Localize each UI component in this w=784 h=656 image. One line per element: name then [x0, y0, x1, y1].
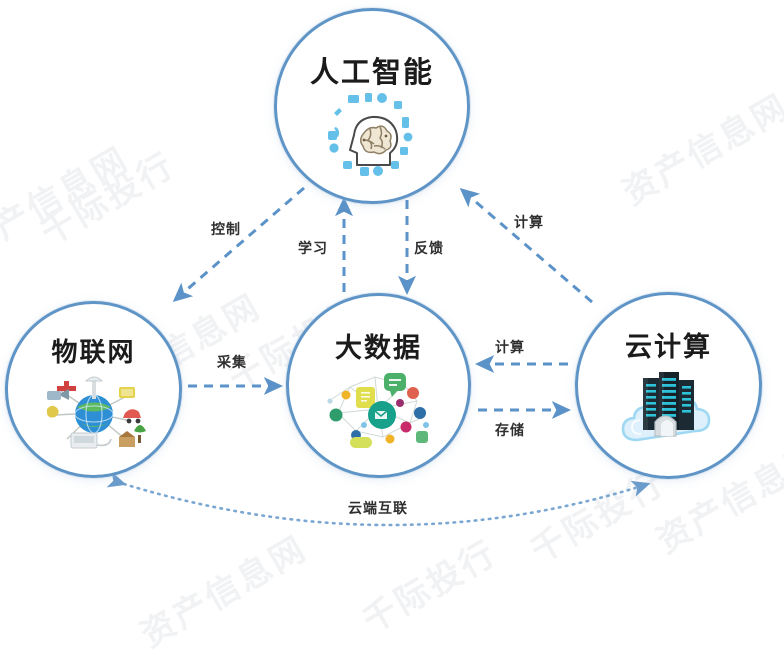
node-iot[interactable]: 物联网: [5, 301, 182, 478]
brain-head-icon: [312, 91, 432, 183]
edge-label-feedback: 反馈: [414, 238, 444, 258]
node-cloud-label: 云计算: [625, 325, 712, 364]
edge-label-learning: 学习: [298, 238, 328, 258]
node-cloud[interactable]: 云计算: [575, 292, 762, 479]
cloud-server-icon: [611, 364, 727, 450]
edge-label-control: 控制: [211, 219, 241, 239]
edge-label-compute-cloud-bd: 计算: [495, 337, 525, 357]
node-ai-label: 人工智能: [310, 49, 434, 91]
globe-devices-icon: [33, 369, 155, 455]
node-bd[interactable]: 大数据: [286, 293, 471, 478]
edge-label-compute-cloud-ai: 计算: [514, 212, 544, 232]
node-iot-label: 物联网: [51, 332, 135, 369]
edge-cloud-to-ai: [462, 190, 592, 302]
edge-label-collect: 采集: [217, 352, 247, 372]
diagram-canvas: 千际投行资产信息网资产信息网千际投行资产信息网千际投行资产信息网千际投行资产信息…: [0, 0, 784, 544]
node-ai[interactable]: 人工智能: [274, 8, 470, 204]
node-bd-label: 大数据: [335, 326, 422, 365]
edge-label-cloud-interconnect: 云端互联: [348, 498, 408, 518]
edge-label-storage: 存储: [495, 420, 525, 440]
data-network-icon: [320, 365, 438, 451]
edge-ai-to-iot: [175, 188, 304, 300]
